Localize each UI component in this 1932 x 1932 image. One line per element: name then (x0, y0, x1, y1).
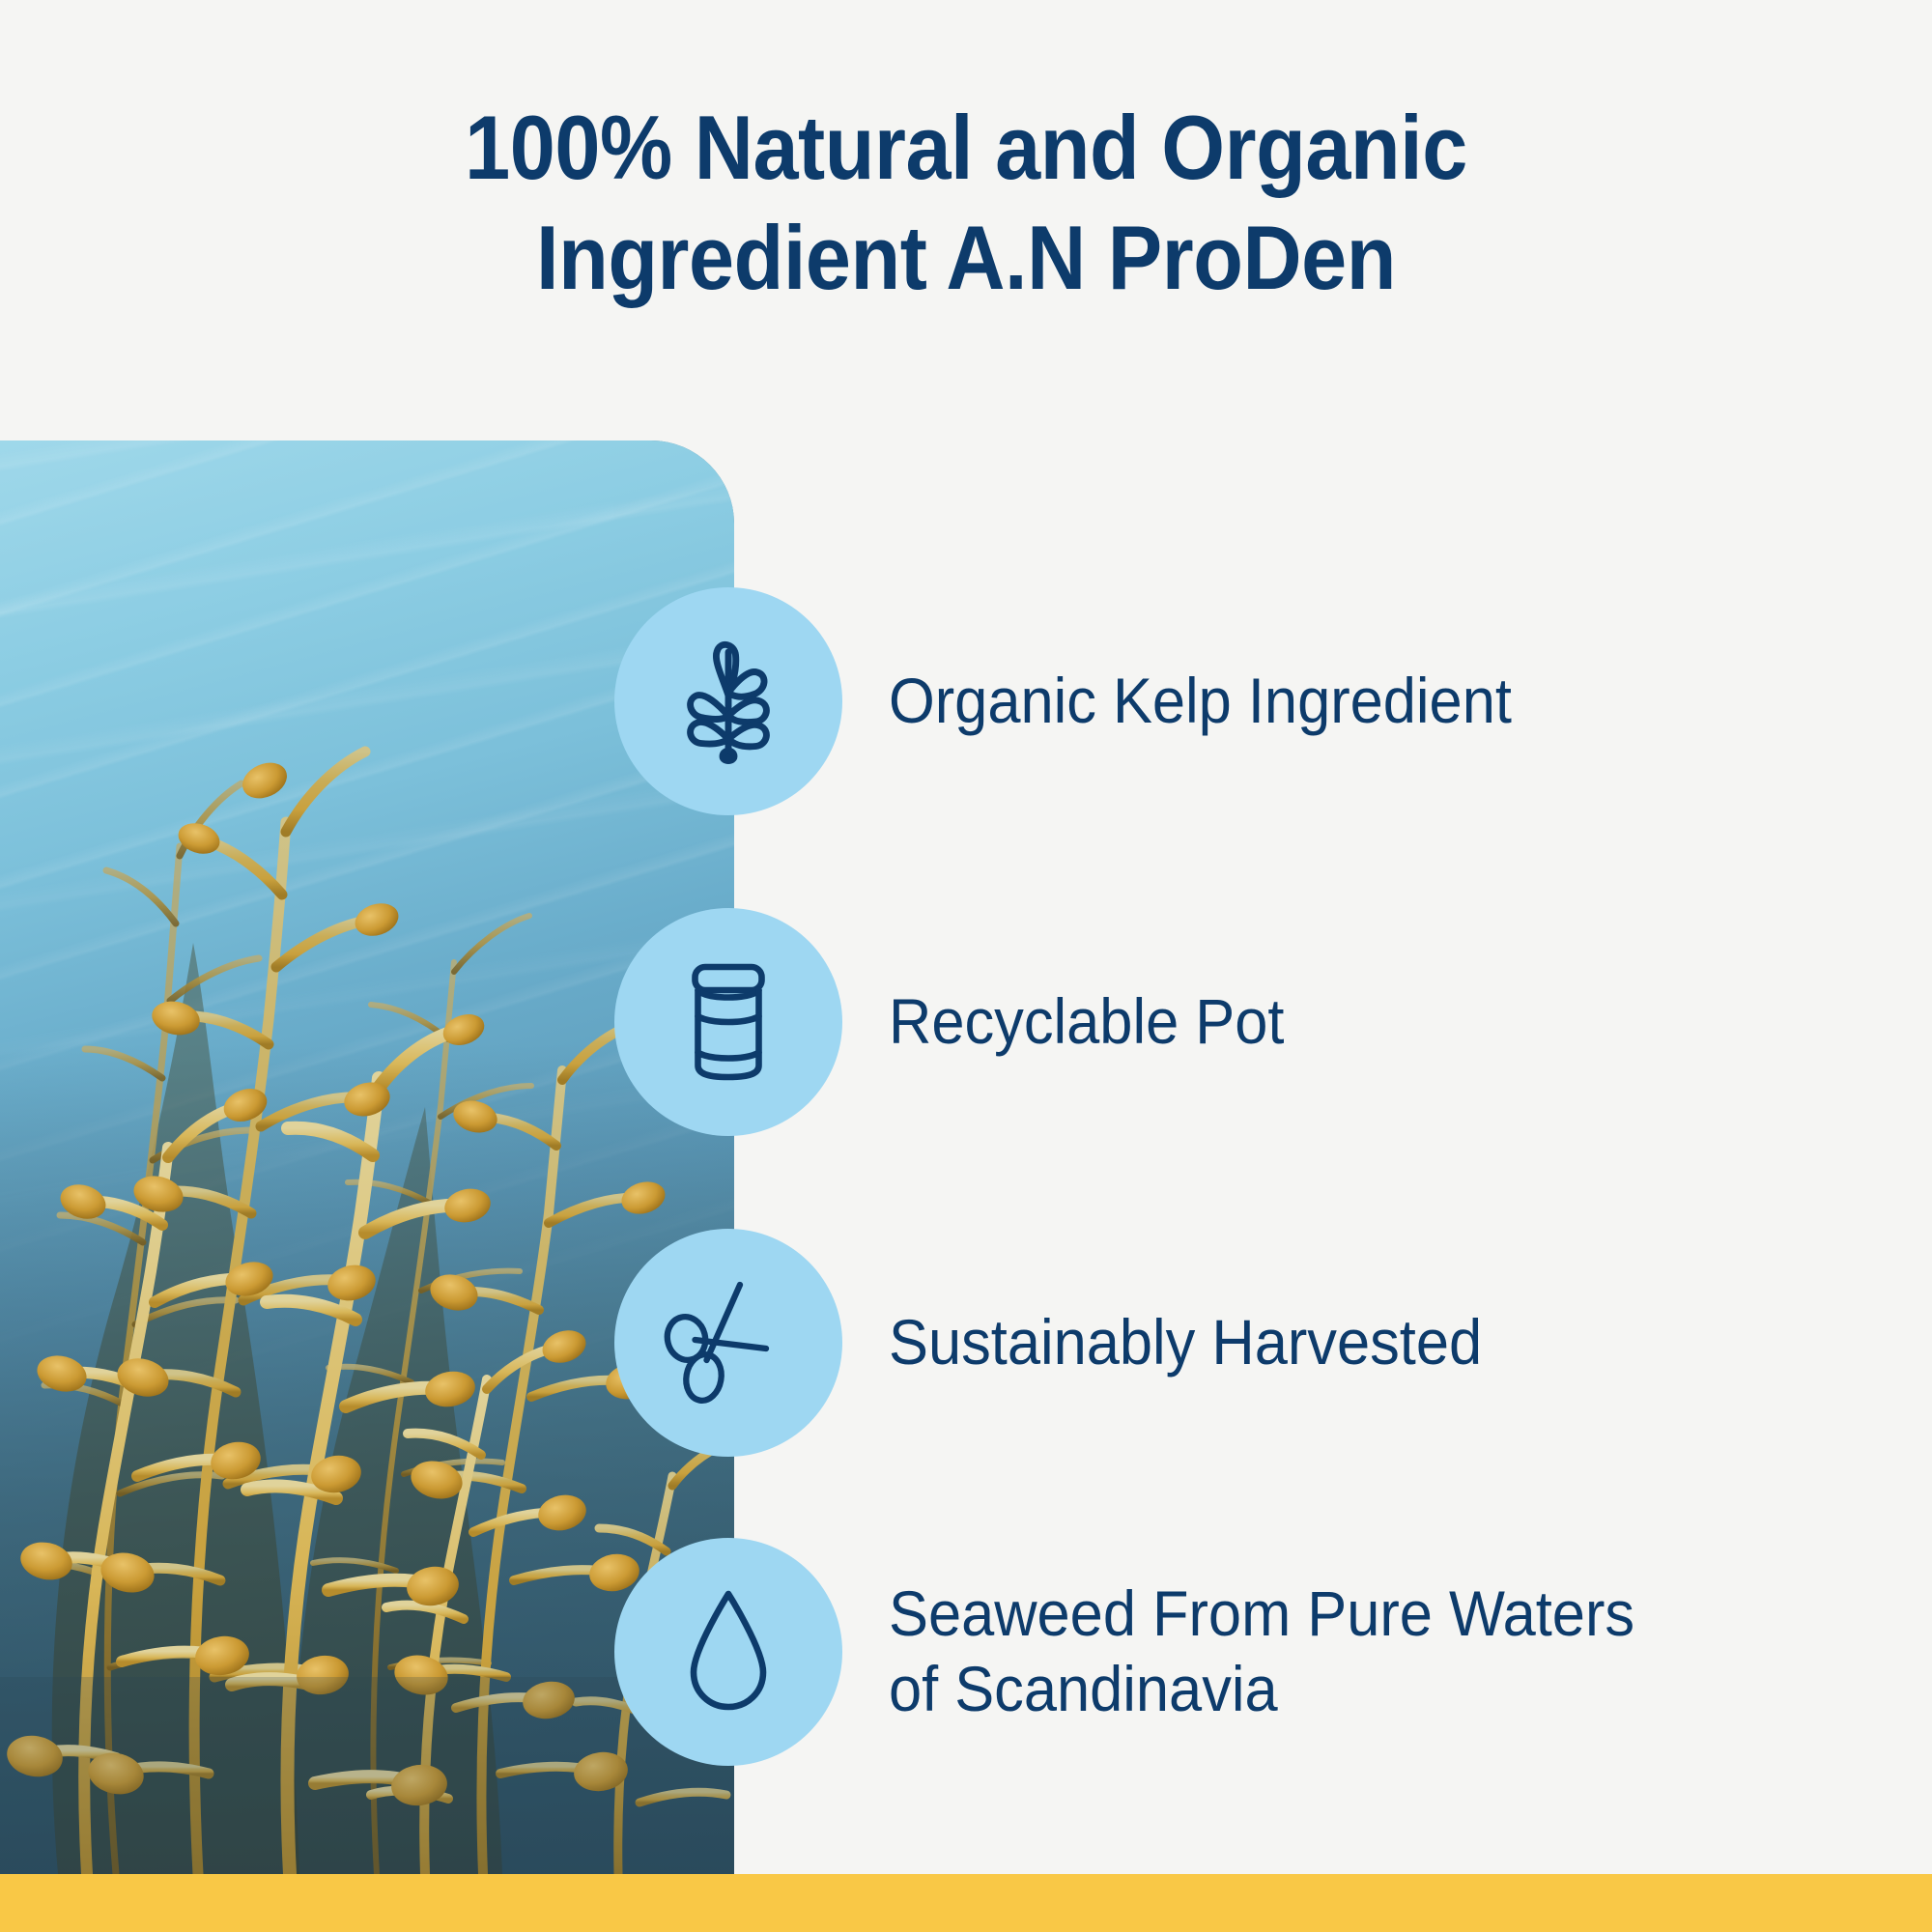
scissors-icon (656, 1270, 801, 1415)
feature-item-sustainably-harvested: Sustainably Harvested (614, 1229, 1526, 1457)
page-title-line-1: 100% Natural and Organic (97, 93, 1835, 203)
feature-icon-circle (614, 587, 842, 815)
infographic-page: 100% Natural and Organic Ingredient A.N … (0, 0, 1932, 1932)
feature-item-organic-kelp: Organic Kelp Ingredient (614, 587, 1558, 815)
feature-label: Sustainably Harvested (889, 1305, 1482, 1380)
page-title: 100% Natural and Organic Ingredient A.N … (0, 93, 1932, 312)
water-droplet-icon (656, 1579, 801, 1724)
feature-icon-circle (614, 908, 842, 1136)
recyclable-jar-icon (656, 950, 801, 1094)
feature-icon-circle (614, 1229, 842, 1457)
feature-icon-circle (614, 1538, 842, 1766)
page-title-line-2: Ingredient A.N ProDen (97, 203, 1835, 313)
feature-label: Seaweed From Pure Waters of Scandinavia (889, 1577, 1634, 1727)
kelp-leaf-icon (656, 629, 801, 774)
feature-item-pure-waters: Seaweed From Pure Waters of Scandinavia (614, 1538, 1690, 1766)
feature-item-recyclable-pot: Recyclable Pot (614, 908, 1314, 1136)
bottom-accent-bar (0, 1874, 1932, 1932)
feature-label: Recyclable Pot (889, 984, 1284, 1060)
feature-label: Organic Kelp Ingredient (889, 664, 1512, 739)
